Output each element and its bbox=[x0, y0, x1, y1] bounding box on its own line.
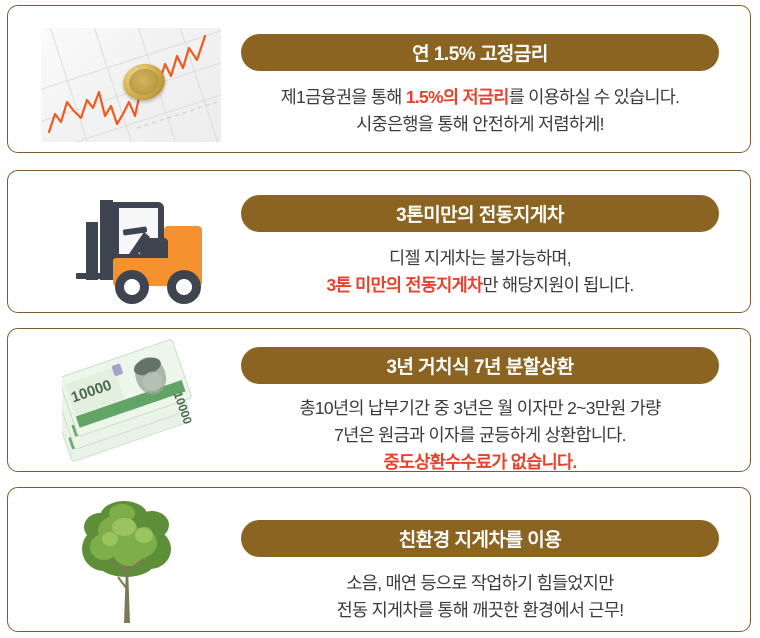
coin-chart-photo bbox=[41, 28, 221, 142]
tree-icon bbox=[60, 497, 200, 627]
card-content: 3톤미만의 전동지게차 디젤 지게차는 불가능하며, 3톤 미만의 전동지게차만… bbox=[241, 171, 750, 312]
description-line: 시중은행을 통해 안전하게 저렴하게! bbox=[241, 111, 719, 138]
card-description: 총10년의 납부기간 중 3년은 월 이자만 2~3만원 가량 7년은 원금과 … bbox=[241, 395, 719, 472]
card-title-pill: 친환경 지게차를 이용 bbox=[241, 520, 719, 557]
card-content: 친환경 지게차를 이용 소음, 매연 등으로 작업하기 힘들었지만 전동 지게차… bbox=[241, 488, 750, 631]
benefit-card-fixed-rate: 연 1.5% 고정금리 제1금융권을 통해 1.5%의 저금리를 이용하실 수 … bbox=[7, 5, 751, 153]
benefits-card-list: 연 1.5% 고정금리 제1금융권을 통해 1.5%의 저금리를 이용하실 수 … bbox=[0, 0, 760, 638]
card-content: 연 1.5% 고정금리 제1금융권을 통해 1.5%의 저금리를 이용하실 수 … bbox=[241, 6, 750, 152]
card-media-coin-chart bbox=[8, 6, 241, 152]
card-description: 소음, 매연 등으로 작업하기 힘들었지만 전동 지게차를 통해 깨끗한 환경에… bbox=[241, 570, 719, 624]
description-line: 디젤 지게차는 불가능하며, bbox=[241, 245, 719, 272]
card-description: 디젤 지게차는 불가능하며, 3톤 미만의 전동지게차만 해당지원이 됩니다. bbox=[241, 245, 719, 299]
description-line: 중도상환수수료가 없습니다. bbox=[241, 449, 719, 472]
description-line: 3톤 미만의 전동지게차만 해당지원이 됩니다. bbox=[241, 272, 719, 299]
banknotes-icon: 10000 10000 10000 10000 bbox=[62, 334, 222, 466]
card-content: 3년 거치식 7년 분할상환 총10년의 납부기간 중 3년은 월 이자만 2~… bbox=[241, 329, 750, 471]
description-line: 총10년의 납부기간 중 3년은 월 이자만 2~3만원 가량 bbox=[241, 395, 719, 422]
card-title-pill: 3년 거치식 7년 분할상환 bbox=[241, 347, 719, 384]
description-line: 전동 지게차를 통해 깨끗한 환경에서 근무! bbox=[241, 597, 719, 624]
card-description: 제1금융권을 통해 1.5%의 저금리를 이용하실 수 있습니다. 시중은행을 … bbox=[241, 84, 719, 138]
description-line: 제1금융권을 통해 1.5%의 저금리를 이용하실 수 있습니다. bbox=[241, 84, 719, 111]
description-line: 7년은 원금과 이자를 균등하게 상환합니다. bbox=[241, 422, 719, 449]
card-title-pill: 3톤미만의 전동지게차 bbox=[241, 195, 719, 232]
description-line: 소음, 매연 등으로 작업하기 힘들었지만 bbox=[241, 570, 719, 597]
forklift-icon bbox=[66, 188, 216, 308]
card-title-pill: 연 1.5% 고정금리 bbox=[241, 34, 719, 71]
